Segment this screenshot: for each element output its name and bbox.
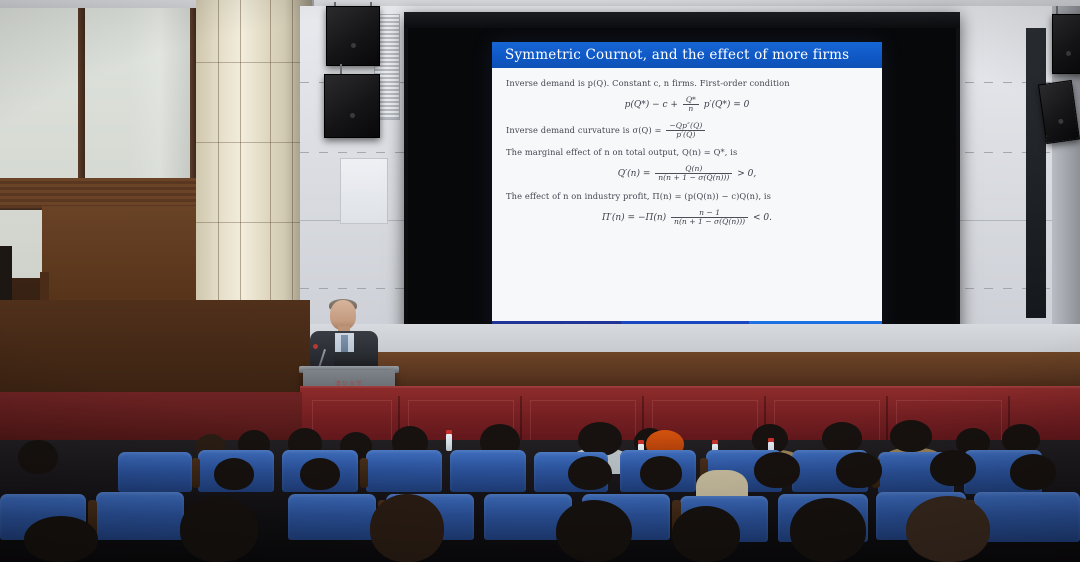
wall-notice bbox=[340, 158, 388, 224]
auditorium-seat[interactable] bbox=[974, 492, 1080, 542]
audience-head bbox=[790, 498, 866, 562]
audience-head bbox=[836, 452, 882, 488]
foc-numerator: Q* bbox=[683, 96, 699, 104]
audience-head bbox=[370, 494, 444, 562]
doorway-shadow bbox=[0, 246, 12, 306]
water-bottle bbox=[446, 434, 452, 451]
audience-head bbox=[1010, 454, 1056, 490]
audience-head bbox=[890, 420, 932, 452]
audience-head bbox=[24, 516, 98, 562]
foc-tail: p′(Q*) = 0 bbox=[704, 100, 750, 110]
dq-tail: > 0, bbox=[737, 169, 756, 179]
audience-head bbox=[906, 496, 990, 562]
ceiling-speaker-icon bbox=[324, 74, 380, 138]
room-backdrop: Symmetric Cournot, and the effect of mor… bbox=[0, 0, 1080, 562]
audience-head bbox=[754, 452, 800, 488]
auditorium-seat[interactable] bbox=[118, 452, 192, 492]
audience-head bbox=[640, 456, 682, 490]
screen-top-frame bbox=[404, 12, 960, 28]
audience-head bbox=[930, 450, 976, 486]
auditorium-seat[interactable] bbox=[450, 450, 526, 492]
slide-line-1: Inverse demand is p(Q). Constant c, n fi… bbox=[506, 78, 868, 89]
slide-line-3: The marginal effect of n on total output… bbox=[506, 147, 868, 158]
slide-title: Symmetric Cournot, and the effect of mor… bbox=[492, 42, 882, 68]
audience-head bbox=[578, 422, 622, 456]
presentation-slide: Symmetric Cournot, and the effect of mor… bbox=[492, 42, 882, 332]
equation-first-order-condition: p(Q*) − c + Q* n p′(Q*) = 0 bbox=[506, 96, 868, 113]
auditorium-seat[interactable] bbox=[96, 492, 184, 540]
auditorium-seat[interactable] bbox=[366, 450, 442, 492]
equation-profit-effect: Π′(n) = −Π(n) n − 1 n(n + 1 − σ(Q(n))) <… bbox=[506, 209, 868, 226]
slide-body: Inverse demand is p(Q). Constant c, n fi… bbox=[492, 68, 882, 226]
microphone-head bbox=[313, 344, 318, 349]
ceiling-speaker-icon bbox=[326, 6, 380, 66]
equation-marginal-output: Q′(n) = Q(n) n(n + 1 − σ(Q(n))) > 0, bbox=[506, 165, 868, 182]
audience-head bbox=[672, 506, 740, 562]
auditorium-seat[interactable] bbox=[288, 494, 376, 540]
foc-lhs: p(Q*) − c + bbox=[625, 100, 678, 110]
slide-line-2: Inverse demand curvature is σ(Q) = −Qp″(… bbox=[506, 122, 868, 139]
dq-fraction: Q(n) n(n + 1 − σ(Q(n))) bbox=[655, 165, 732, 182]
curvature-fraction: −Qp″(Q) p′(Q) bbox=[666, 122, 705, 139]
dq-lhs: Q′(n) = bbox=[618, 169, 651, 179]
curvature-denominator: p′(Q) bbox=[666, 130, 705, 139]
dq-numerator: Q(n) bbox=[655, 165, 732, 173]
ceiling-speaker-icon bbox=[1052, 14, 1080, 74]
audience-head bbox=[300, 458, 340, 490]
dq-denominator: n(n + 1 − σ(Q(n))) bbox=[655, 173, 732, 182]
dpi-lhs: Π′(n) = −Π(n) bbox=[602, 213, 666, 223]
dpi-tail: < 0. bbox=[753, 213, 772, 223]
audience-head bbox=[18, 440, 58, 474]
audience-head bbox=[180, 496, 258, 562]
slide-line-4: The effect of n on industry profit, Π(n)… bbox=[506, 191, 868, 202]
doorway-right[interactable] bbox=[1026, 28, 1046, 318]
audience-head bbox=[568, 456, 612, 490]
curvature-text: Inverse demand curvature is σ(Q) = bbox=[506, 125, 662, 135]
dpi-denominator: n(n + 1 − σ(Q(n))) bbox=[671, 217, 748, 226]
audience-head bbox=[214, 458, 254, 490]
foc-denominator: n bbox=[683, 104, 699, 113]
lecture-hall-photo: Symmetric Cournot, and the effect of mor… bbox=[0, 0, 1080, 562]
front-wall bbox=[300, 324, 1080, 354]
audience-head bbox=[556, 500, 632, 562]
dpi-fraction: n − 1 n(n + 1 − σ(Q(n))) bbox=[671, 209, 748, 226]
curvature-numerator: −Qp″(Q) bbox=[666, 122, 705, 130]
foc-fraction: Q* n bbox=[683, 96, 699, 113]
front-wood-band-left bbox=[0, 300, 310, 392]
dpi-numerator: n − 1 bbox=[671, 209, 748, 217]
